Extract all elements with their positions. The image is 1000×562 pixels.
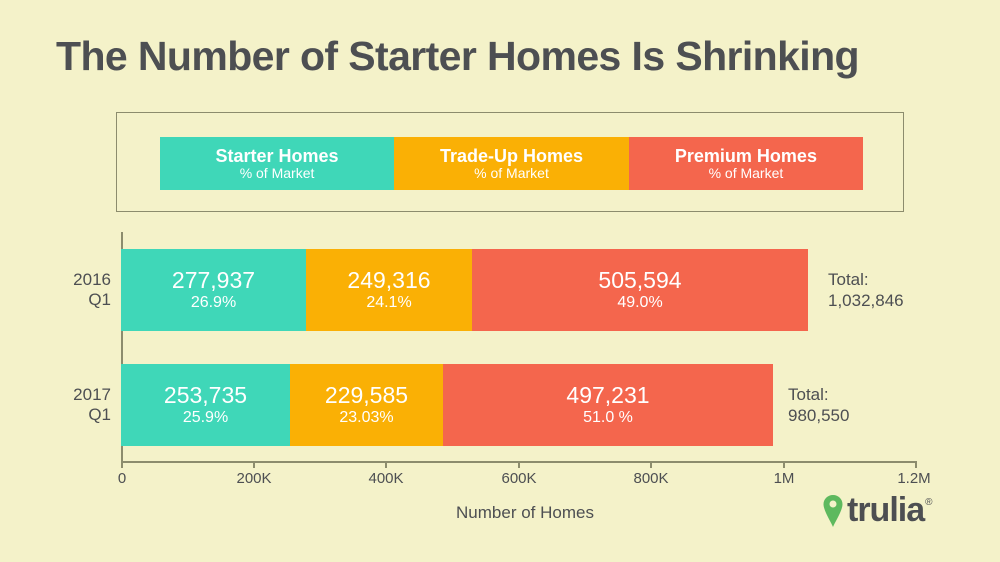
x-tick-mark-600k [518, 461, 520, 468]
row-label-quarter: Q1 [11, 290, 111, 310]
segment-percent: 49.0% [617, 294, 662, 312]
x-tick-mark-0 [121, 461, 123, 468]
x-tick-label-0: 0 [118, 470, 126, 487]
segment-value: 505,594 [598, 268, 681, 294]
x-tick-mark-1m [783, 461, 785, 468]
map-pin-icon [822, 494, 844, 528]
row-total-2017-q1: Total: 980,550 [788, 384, 849, 427]
segment-value: 277,937 [172, 268, 255, 294]
brand-wordmark: trulia [847, 491, 924, 530]
x-tick-mark-800k [650, 461, 652, 468]
x-tick-mark-400k [385, 461, 387, 468]
bar-segment-starter-2017[interactable]: 253,735 25.9% [121, 364, 290, 446]
row-label-year: 2016 [11, 270, 111, 290]
bar-segment-tradeup-2016[interactable]: 249,316 24.1% [306, 249, 472, 331]
x-tick-label-800k: 800K [633, 470, 668, 487]
bar-segment-premium-2017[interactable]: 497,231 51.0 % [443, 364, 773, 446]
x-tick-label-1-2m: 1.2M [897, 470, 930, 487]
row-label-quarter: Q1 [11, 405, 111, 425]
trulia-logo[interactable]: trulia ® [822, 491, 933, 530]
stacked-bar-2017-q1: 253,735 25.9% 229,585 23.03% 497,231 51.… [121, 364, 773, 446]
chart-plot-area: 2016 Q1 277,937 26.9% 249,316 24.1% 505,… [0, 0, 1000, 562]
bar-segment-starter-2016[interactable]: 277,937 26.9% [121, 249, 306, 331]
x-tick-mark-200k [253, 461, 255, 468]
x-tick-mark-1-2m [915, 461, 917, 468]
total-value: 980,550 [788, 405, 849, 426]
segment-value: 253,735 [164, 383, 247, 409]
registered-trademark-icon: ® [925, 497, 932, 508]
y-axis-label-2017-q1: 2017 Q1 [11, 385, 111, 425]
segment-value: 497,231 [566, 383, 649, 409]
segment-value: 249,316 [347, 268, 430, 294]
segment-value: 229,585 [325, 383, 408, 409]
segment-percent: 51.0 % [583, 409, 633, 427]
bar-segment-tradeup-2017[interactable]: 229,585 23.03% [290, 364, 443, 446]
bar-segment-premium-2016[interactable]: 505,594 49.0% [472, 249, 808, 331]
y-axis-label-2016-q1: 2016 Q1 [11, 270, 111, 310]
segment-percent: 23.03% [339, 409, 393, 427]
total-value: 1,032,846 [828, 290, 904, 311]
total-prefix: Total: [828, 269, 904, 290]
row-label-year: 2017 [11, 385, 111, 405]
segment-percent: 26.9% [191, 294, 236, 312]
row-total-2016-q1: Total: 1,032,846 [828, 269, 904, 312]
x-tick-label-600k: 600K [501, 470, 536, 487]
bar-row-2017-q1: 2017 Q1 253,735 25.9% 229,585 23.03% 497… [0, 364, 1000, 446]
x-tick-label-400k: 400K [368, 470, 403, 487]
total-prefix: Total: [788, 384, 849, 405]
x-tick-label-1m: 1M [774, 470, 795, 487]
stacked-bar-2016-q1: 277,937 26.9% 249,316 24.1% 505,594 49.0… [121, 249, 808, 331]
segment-percent: 25.9% [183, 409, 228, 427]
bar-row-2016-q1: 2016 Q1 277,937 26.9% 249,316 24.1% 505,… [0, 249, 1000, 331]
x-tick-label-200k: 200K [236, 470, 271, 487]
segment-percent: 24.1% [366, 294, 411, 312]
